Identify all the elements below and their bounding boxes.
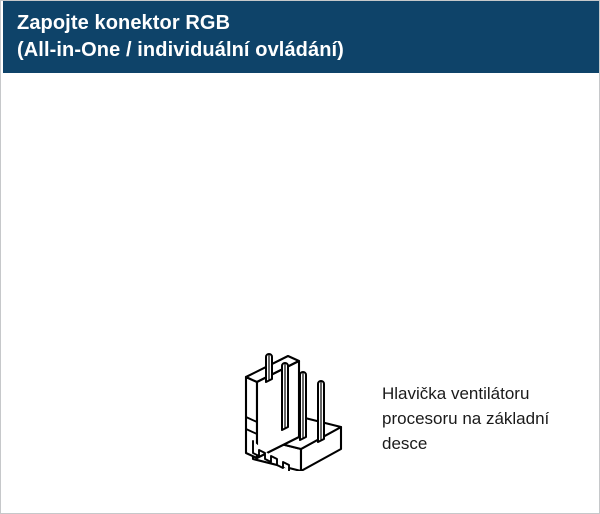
caption-line-1: Hlavička ventilátoru xyxy=(382,381,594,406)
step-header-banner: Zapojte konektor RGB (All-in-One / indiv… xyxy=(3,1,599,73)
header-title-line-2: (All-in-One / individuální ovládání) xyxy=(17,37,599,64)
caption-line-3: desce xyxy=(382,431,594,456)
connector-caption: Hlavička ventilátoru procesoru na základ… xyxy=(382,381,594,456)
cpu-fan-header-connector-icon xyxy=(237,349,353,471)
header-title-line-1: Zapojte konektor RGB xyxy=(17,10,599,37)
caption-line-2: procesoru na základní xyxy=(382,406,594,431)
instruction-step-page: Zapojte konektor RGB (All-in-One / indiv… xyxy=(0,0,600,514)
figure-area: Hlavička ventilátoru procesoru na základ… xyxy=(1,73,599,513)
